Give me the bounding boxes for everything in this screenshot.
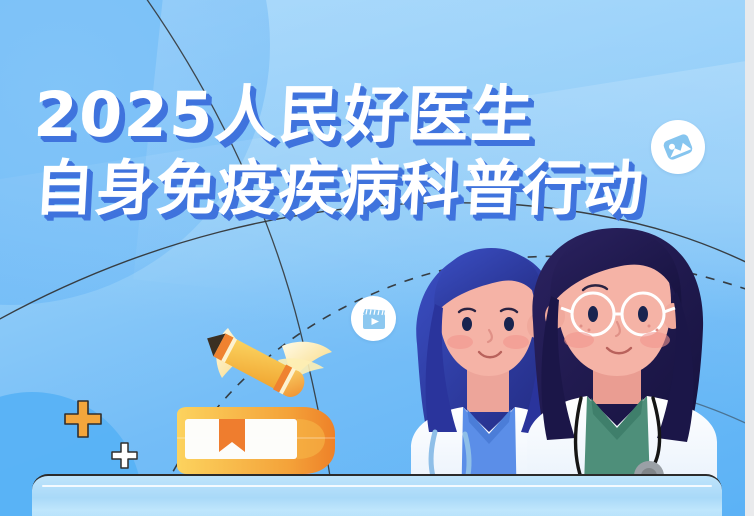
doctor-right-eye-right-icon xyxy=(638,306,648,322)
plus-icon xyxy=(112,443,137,468)
doctor-left-eye-left-icon xyxy=(462,317,472,331)
doctor-left-eye-right-icon xyxy=(504,317,514,331)
video-badge[interactable] xyxy=(351,296,396,341)
doctor-right xyxy=(527,228,721,516)
title-line-1: 2025人民好医生 xyxy=(32,78,646,152)
poster-canvas: 2025人民好医生 自身免疫疾病科普行动 xyxy=(0,0,754,516)
title-line-2: 自身免疫疾病科普行动 xyxy=(32,152,646,226)
doctor-right-eye-left-icon xyxy=(588,306,598,322)
poster-title: 2025人民好医生 自身免疫疾病科普行动 xyxy=(34,78,644,226)
doctors-illustration xyxy=(405,226,745,516)
bottom-device-bar xyxy=(32,474,722,516)
plus-mark-orange xyxy=(62,398,104,440)
book xyxy=(175,404,340,476)
right-edge-strip xyxy=(745,0,754,516)
photo-badge[interactable] xyxy=(651,120,705,174)
photo-icon xyxy=(661,130,695,164)
video-clapperboard-icon xyxy=(360,305,388,333)
plus-mark-white xyxy=(110,441,139,470)
plus-icon xyxy=(65,401,101,437)
